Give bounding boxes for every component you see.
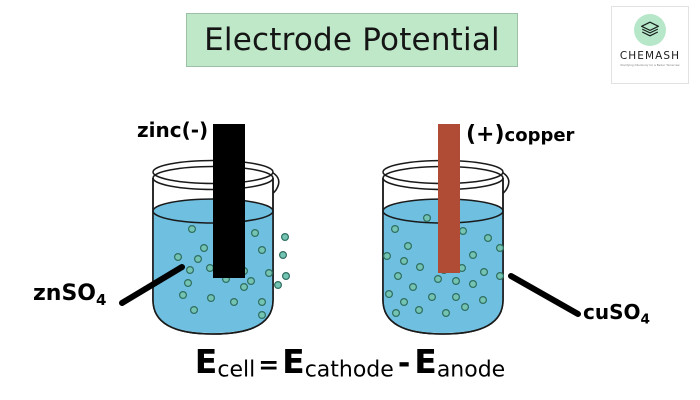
slide-canvas: Electrode Potential CHEMASH Clarifying C… [0,0,700,400]
formula-e-cell: E [195,342,218,381]
copper-label-name: copper [505,125,575,146]
formula-minus: - [394,346,414,381]
formula-e-anode: E [414,342,437,381]
formula-sub-cathode: cathode [305,358,394,383]
cuso4-pointer-line [511,276,578,314]
cuso4-label: cuSO4 [583,300,650,327]
formula-equals: = [255,350,282,379]
formula-sub-anode: anode [437,358,505,383]
copper-electrode [438,124,460,273]
formula-sub-cell: cell [217,358,255,383]
electrochemical-cell-diagram [0,0,700,400]
znso4-label: znSO4 [33,281,106,309]
zinc-electrode-label: zinc(-) [137,118,208,142]
copper-electrode-label: (+)copper [466,122,574,147]
cuso4-formula: cuSO [583,300,641,324]
formula-e-cathode: E [282,342,305,381]
right-beaker [380,124,510,340]
left-beaker [150,124,289,340]
cell-potential-formula: Ecell=Ecathode-Eanode [0,342,700,383]
znso4-subscript: 4 [96,291,106,309]
cuso4-subscript: 4 [641,311,650,327]
zinc-electrode [213,124,245,278]
copper-label-sign: (+) [466,122,505,147]
znso4-formula: znSO [33,281,96,306]
